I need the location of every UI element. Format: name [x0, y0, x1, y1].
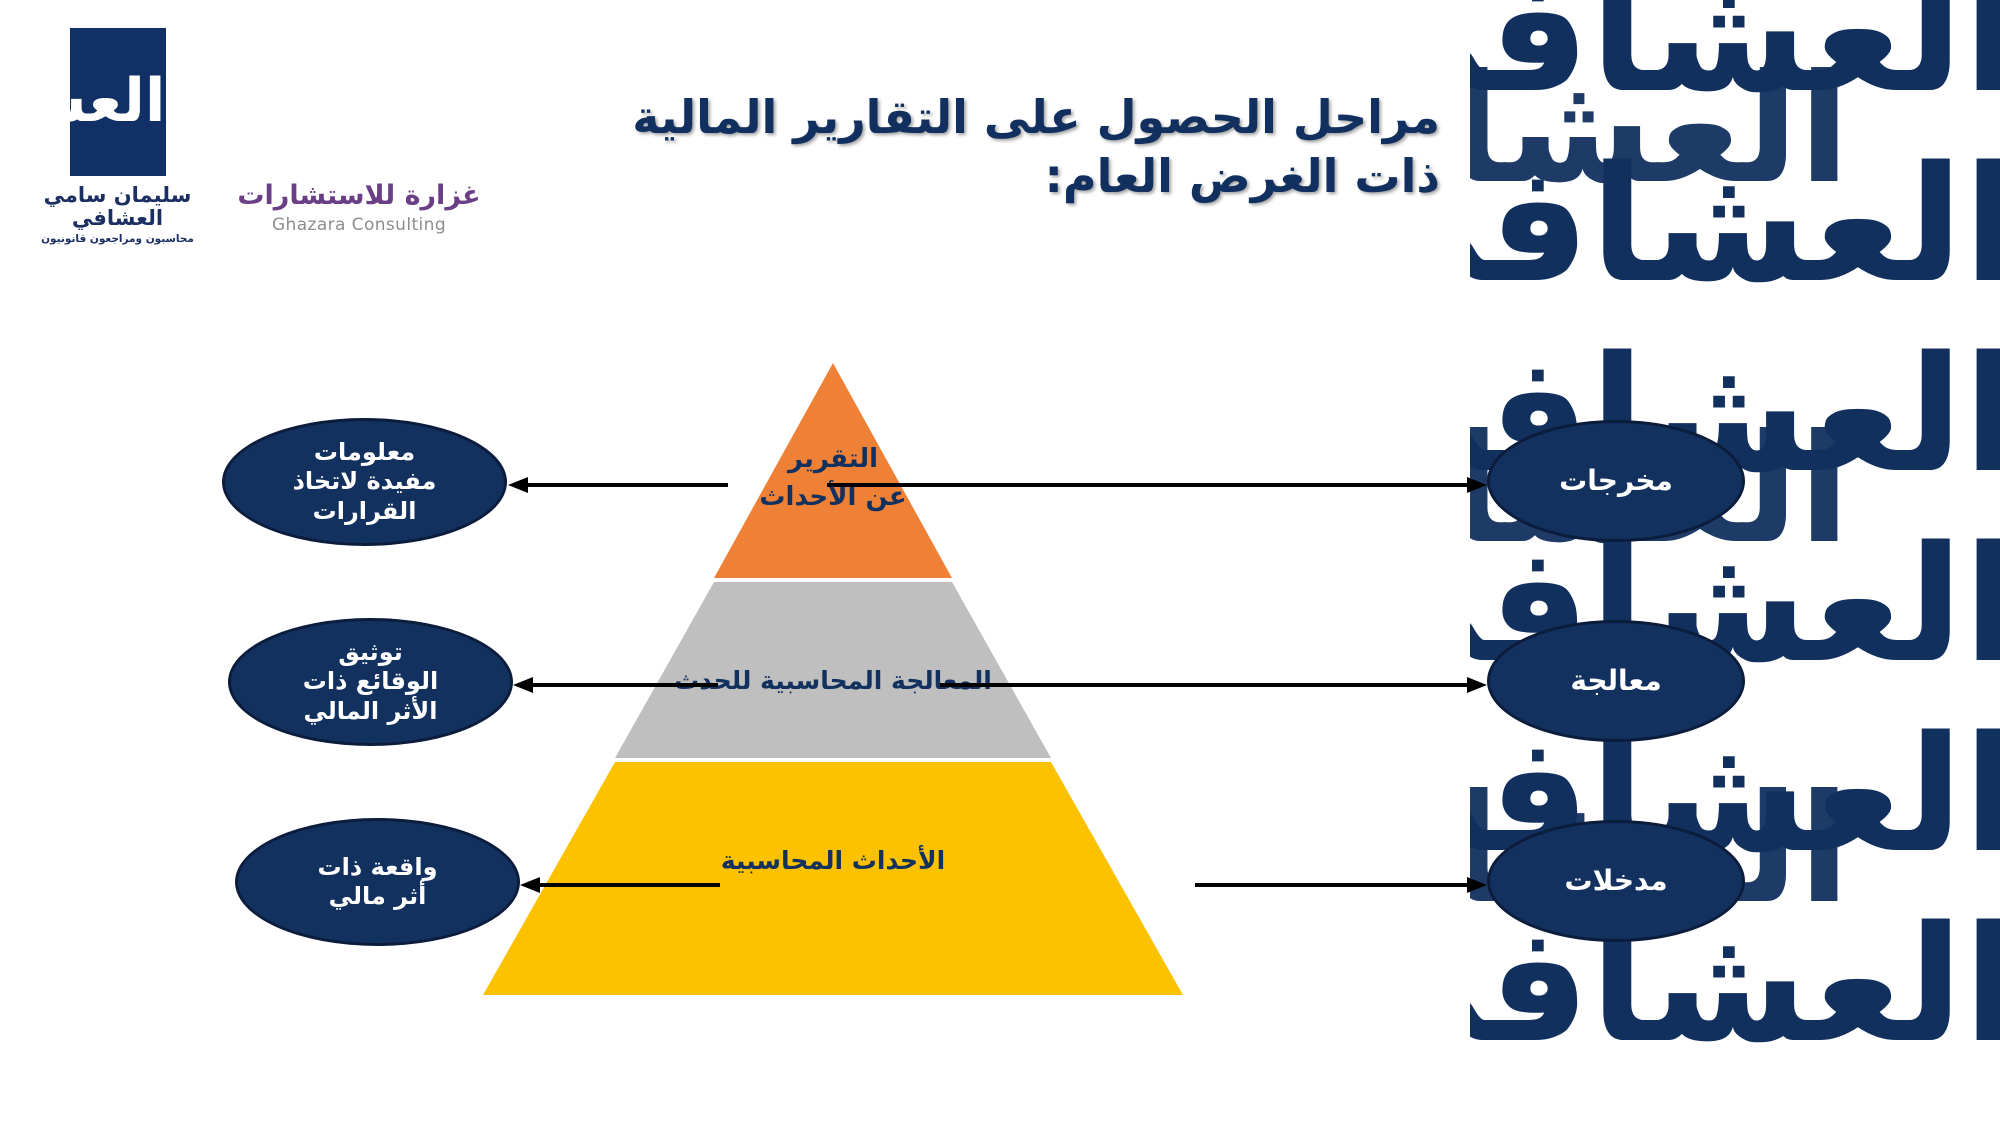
node-right-outputs[interactable]: مخرجات [1487, 420, 1745, 542]
decorative-watermark-strip: العشافي العشافي العشافي العشافي العشافي … [1470, 0, 2000, 1125]
node-right-inputs[interactable]: مدخلات [1487, 820, 1745, 942]
ashafi-logo-mark: العشافي [70, 28, 166, 176]
watermark-column-7: العشافي [1470, 60, 1850, 201]
ghazara-calligraphy-glyph: غ [228, 42, 490, 154]
ashafi-firm-subtitle: محاسبون ومراجعون قانونيون [10, 233, 225, 245]
pyramid-tier-middle-label: المعالجة المحاسبية للحدث [603, 663, 1063, 699]
logo-ghazara: غ غزارة للاستشارات Ghazara Consulting [228, 28, 490, 235]
ghazara-name-arabic: غزارة للاستشارات [228, 182, 490, 210]
watermark-column-2: العشافي [1470, 150, 2000, 300]
ashafi-firm-name: سليمان سامي العشافي [10, 184, 225, 230]
node-right-processing[interactable]: معالجة [1487, 620, 1745, 742]
pyramid-diagram: التقرير عن الأحداث المعالجة المحاسبية لل… [483, 363, 1183, 995]
slide-canvas: العشافي العشافي العشافي العشافي العشافي … [0, 0, 2000, 1125]
ghazara-name-english: Ghazara Consulting [228, 215, 490, 235]
pyramid-tier-top-label: التقرير عن الأحداث [643, 441, 1023, 516]
node-left-inputs-detail[interactable]: واقعة ذات أثر مالي [235, 818, 520, 946]
node-left-outputs-detail[interactable]: معلومات مفيدة لاتخاذ القرارات [222, 418, 507, 546]
ghazara-logo-mark: غ [228, 28, 490, 180]
watermark-column-1: العشافي [1470, 0, 2000, 110]
page-title: مراحل الحصول على التقارير المالية ذات ال… [560, 88, 1440, 206]
logo-ashafi: العشافي سليمان سامي العشافي محاسبون ومرا… [10, 28, 225, 245]
node-left-processing-detail[interactable]: توثيق الوقائع ذات الأثر المالي [228, 618, 513, 746]
arrow-to-right-node-3 [1195, 874, 1487, 896]
pyramid-tier-bottom-label: الأحداث المحاسبية [563, 843, 1103, 879]
ashafi-calligraphy-glyph: العشافي [70, 71, 166, 131]
